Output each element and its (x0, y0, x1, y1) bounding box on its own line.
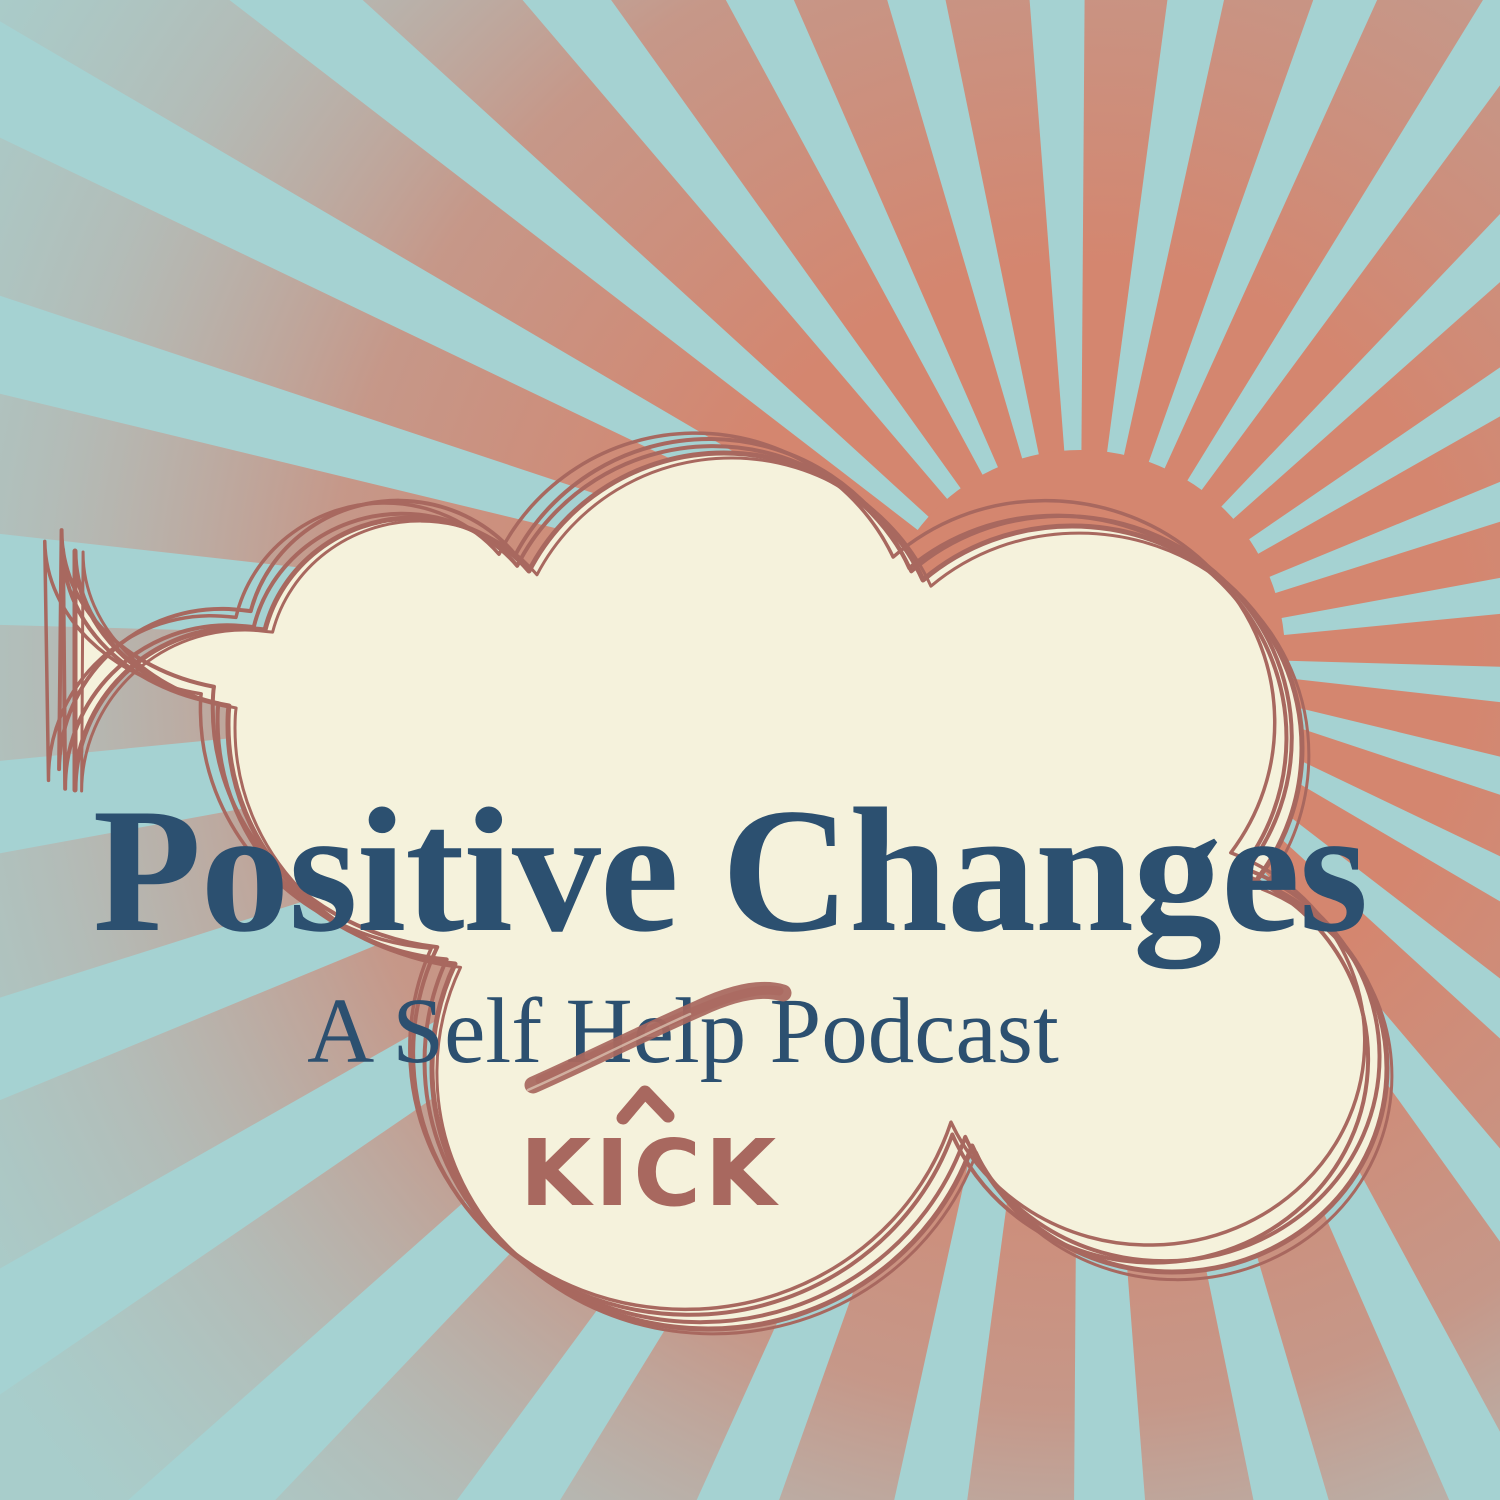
subtitle: A Self Help Podcast (307, 980, 1059, 1083)
text-layer: Positive Changes A Self Help Podcast KIC… (0, 0, 1500, 1500)
podcast-cover-artwork: Positive Changes A Self Help Podcast KIC… (0, 0, 1500, 1500)
caret-icon (623, 1092, 668, 1118)
page-title: Positive Changes (93, 771, 1368, 969)
handwritten-kick: KICK (520, 1120, 780, 1227)
